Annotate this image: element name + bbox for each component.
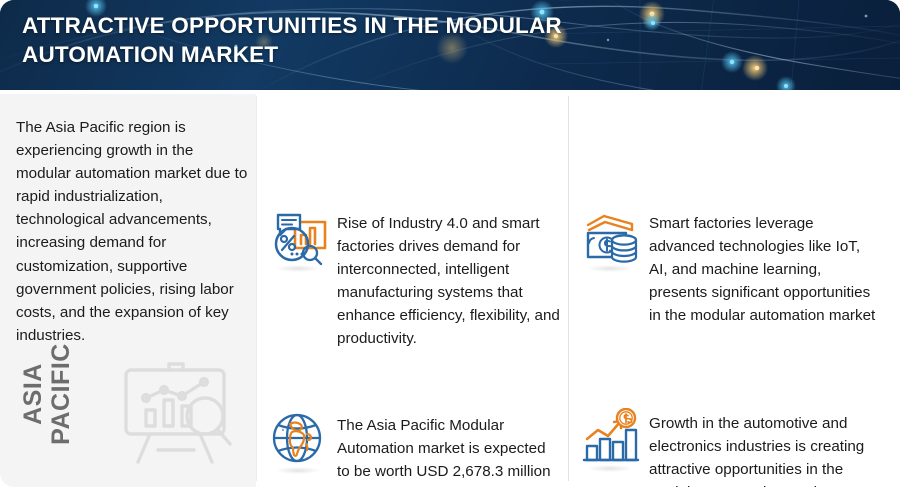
insight-card-industry-40: Rise of Industry 4.0 and smart factories… (268, 208, 560, 351)
column-divider (568, 96, 569, 481)
insight-card-text: Smart factories leverage advanced techno… (649, 208, 880, 327)
panel-edge-divider (256, 96, 257, 481)
money-cash-coins-icon (580, 208, 640, 272)
icon-shadow (276, 265, 320, 272)
left-summary-panel: The Asia Pacific region is experiencing … (0, 94, 256, 487)
insight-card-text: Growth in the automotive and electronics… (649, 408, 880, 487)
presentation-chart-magnifier-icon (112, 352, 240, 480)
infographic-page: ATTRACTIVE OPPORTUNITIES IN THE MODULAR … (0, 0, 900, 487)
insight-card-apac-forecast: The Asia Pacific Modular Automation mark… (268, 410, 560, 487)
insight-card-text: The Asia Pacific Modular Automation mark… (337, 410, 560, 487)
header-banner: ATTRACTIVE OPPORTUNITIES IN THE MODULAR … (0, 0, 900, 90)
insight-card-text: Rise of Industry 4.0 and smart factories… (337, 208, 560, 351)
content-area: The Asia Pacific region is experiencing … (0, 90, 900, 487)
growth-bar-chart-dollar-icon (580, 408, 640, 472)
icon-shadow (276, 467, 320, 474)
region-label: ASIA PACIFIC (19, 319, 75, 469)
icon-shadow (588, 265, 632, 272)
globe-icon (268, 410, 328, 474)
insight-card-automotive-electronics: Growth in the automotive and electronics… (580, 408, 880, 487)
left-panel-paragraph: The Asia Pacific region is experiencing … (16, 116, 248, 347)
insight-card-smart-factories: Smart factories leverage advanced techno… (580, 208, 880, 327)
icon-shadow (588, 465, 632, 472)
market-analysis-percent-icon (268, 208, 328, 272)
page-title: ATTRACTIVE OPPORTUNITIES IN THE MODULAR … (22, 12, 582, 69)
